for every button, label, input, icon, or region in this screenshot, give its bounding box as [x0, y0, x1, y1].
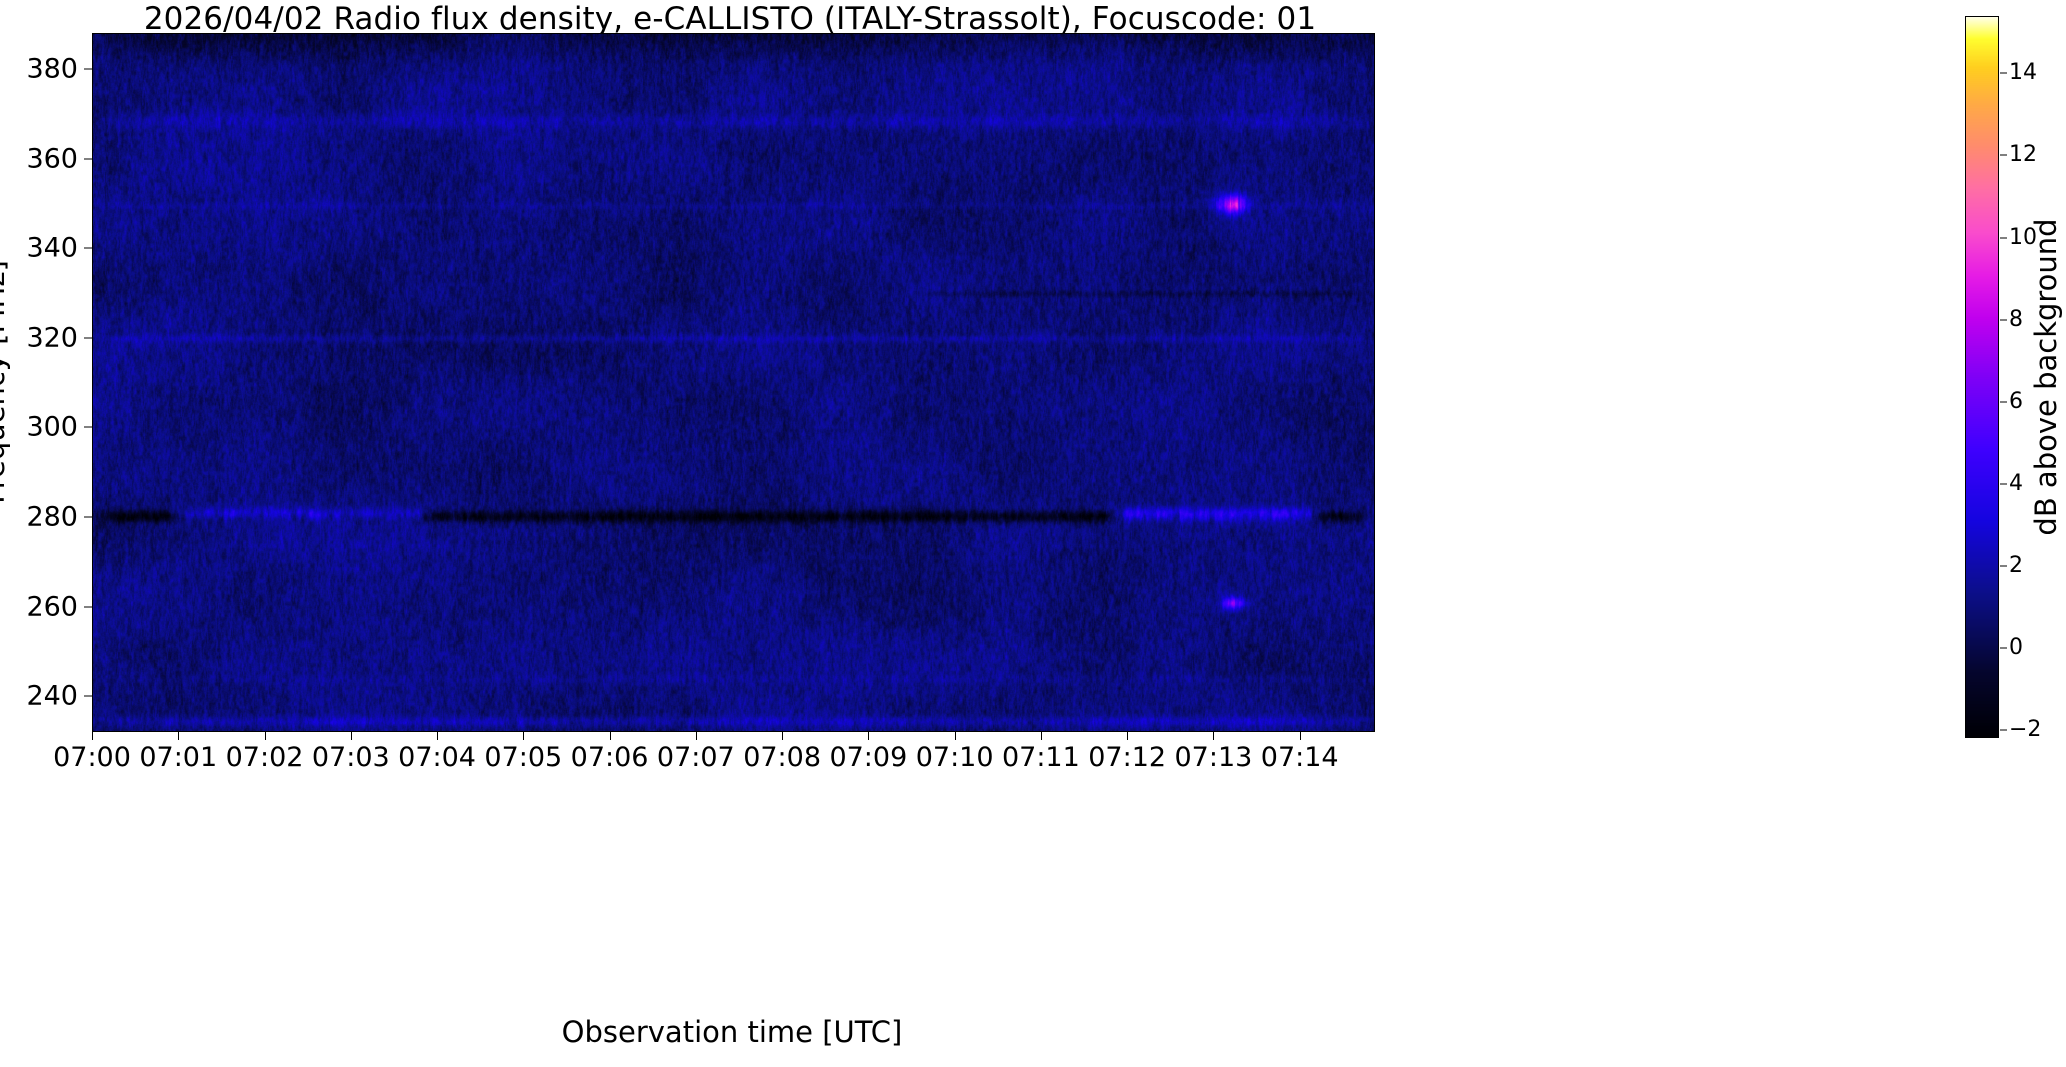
x-tick-label: 07:14	[1261, 744, 1339, 771]
x-tick-mark	[868, 732, 869, 740]
colorbar-tick-label: 0	[2009, 637, 2023, 659]
x-tick-label: 07:06	[571, 744, 649, 771]
y-tick-mark	[84, 158, 92, 159]
x-tick-label: 07:03	[312, 744, 390, 771]
colorbar-tick-mark	[2000, 729, 2007, 730]
colorbar-tick-mark	[2000, 647, 2007, 648]
x-tick-mark	[523, 732, 524, 740]
x-tick-mark	[351, 732, 352, 740]
colorbar-tick-label: 4	[2009, 473, 2023, 495]
x-tick-mark	[178, 732, 179, 740]
y-tick-mark	[84, 517, 92, 518]
y-tick-label: 240	[26, 683, 78, 710]
x-tick-mark	[610, 732, 611, 740]
x-tick-mark	[696, 732, 697, 740]
colorbar-label: dB above background	[2029, 218, 2063, 535]
spectrogram-canvas[interactable]	[93, 34, 1374, 731]
colorbar-tick-mark	[2000, 237, 2007, 238]
colorbar-tick-mark	[2000, 319, 2007, 320]
colorbar-tick-mark	[2000, 401, 2007, 402]
x-tick-label: 07:11	[1002, 744, 1080, 771]
y-tick-label: 300	[26, 414, 78, 441]
x-tick-label: 07:00	[53, 744, 131, 771]
x-axis-label: Observation time [UTC]	[562, 1015, 903, 1049]
heatmap-plot-area[interactable]	[92, 33, 1375, 732]
x-tick-label: 07:08	[743, 744, 821, 771]
x-tick-label: 07:10	[916, 744, 994, 771]
page-title: 2026/04/02 Radio flux density, e-CALLIST…	[0, 2, 1460, 36]
x-tick-label: 07:09	[829, 744, 907, 771]
x-tick-mark	[1127, 732, 1128, 740]
y-tick-mark	[84, 427, 92, 428]
colorbar-tick-label: 12	[2009, 144, 2037, 166]
x-tick-label: 07:05	[484, 744, 562, 771]
x-tick-label: 07:04	[398, 744, 476, 771]
y-tick-label: 280	[26, 504, 78, 531]
colorbar-tick-label: 14	[2009, 62, 2037, 84]
colorbar-gradient	[1965, 16, 1999, 738]
y-tick-label: 340	[26, 235, 78, 262]
x-tick-mark	[1041, 732, 1042, 740]
x-tick-label: 07:02	[226, 744, 304, 771]
spectrogram-figure: 2026/04/02 Radio flux density, e-CALLIST…	[0, 0, 2066, 1067]
y-tick-mark	[84, 696, 92, 697]
x-tick-mark	[265, 732, 266, 740]
x-tick-label: 07:13	[1175, 744, 1253, 771]
x-tick-mark	[955, 732, 956, 740]
x-tick-label: 07:12	[1088, 744, 1166, 771]
x-tick-label: 07:01	[139, 744, 217, 771]
colorbar-tick-mark	[2000, 565, 2007, 566]
x-tick-mark	[1300, 732, 1301, 740]
x-tick-mark	[782, 732, 783, 740]
colorbar-tick-label: −2	[2009, 719, 2041, 741]
colorbar-tick-label: 8	[2009, 309, 2023, 331]
y-tick-mark	[84, 248, 92, 249]
colorbar-tick-mark	[2000, 73, 2007, 74]
x-tick-label: 07:07	[657, 744, 735, 771]
x-tick-mark	[92, 732, 93, 740]
y-tick-label: 320	[26, 324, 78, 351]
colorbar	[1965, 16, 1999, 738]
colorbar-tick-label: 6	[2009, 391, 2023, 413]
x-tick-mark	[437, 732, 438, 740]
y-tick-label: 380	[26, 55, 78, 82]
x-tick-mark	[1213, 732, 1214, 740]
y-tick-mark	[84, 337, 92, 338]
colorbar-tick-mark	[2000, 483, 2007, 484]
y-tick-label: 260	[26, 593, 78, 620]
colorbar-tick-label: 2	[2009, 555, 2023, 577]
y-tick-mark	[84, 606, 92, 607]
y-tick-label: 360	[26, 145, 78, 172]
y-axis-label: Frequency [MHz]	[0, 260, 11, 504]
y-tick-mark	[84, 68, 92, 69]
colorbar-tick-mark	[2000, 155, 2007, 156]
